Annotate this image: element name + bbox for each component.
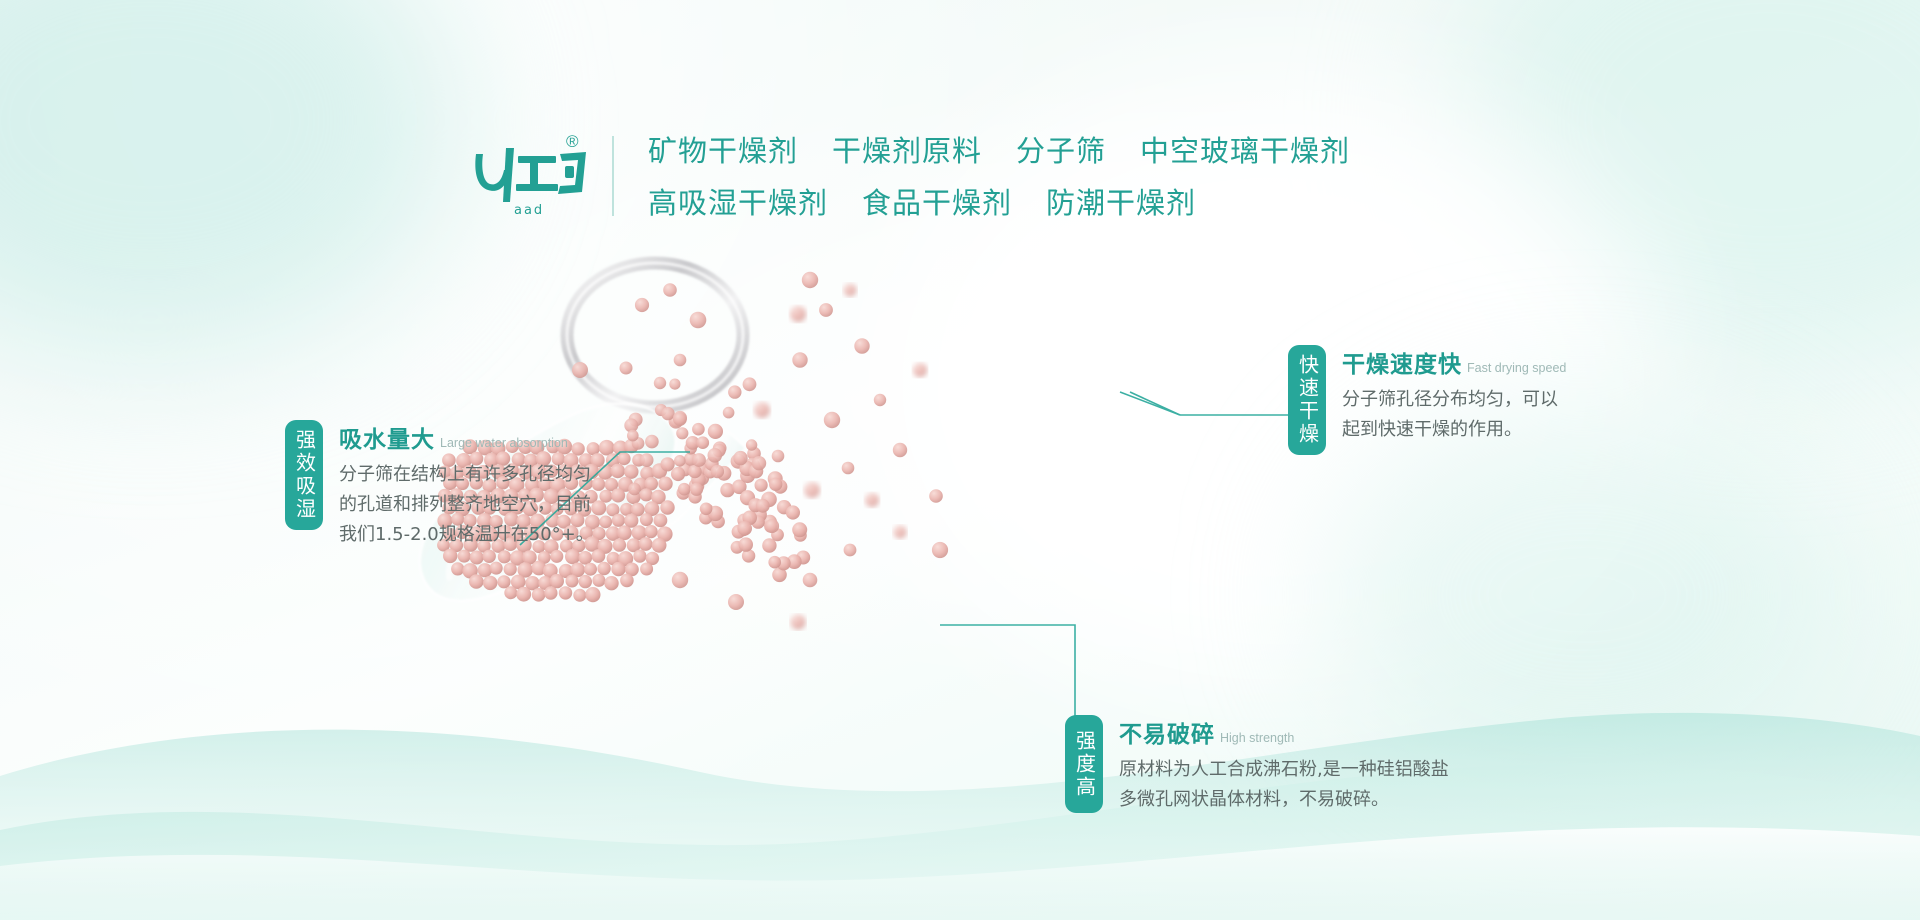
nav-item-moisture-proof-desiccant[interactable]: 防潮干燥剂 — [1046, 180, 1196, 222]
callout-fast-drying-speed: 快速干燥 干燥速度快 Fast drying speed 分子筛孔径分布均匀，可… — [1288, 345, 1566, 455]
callout-subtitle: High strength — [1220, 731, 1294, 745]
nav-item-food-desiccant[interactable]: 食品干燥剂 — [862, 180, 1012, 222]
registered-trademark-icon: ® — [566, 132, 579, 152]
callout-high-strength: 强度高 不易破碎 High strength 原材料为人工合成沸石粉,是一种硅铝… — [1065, 715, 1449, 815]
svg-text:aad: aad — [514, 203, 544, 216]
callout-subtitle: Large water absorption — [440, 436, 568, 450]
callout-large-water-absorption: 强效吸湿 吸水量大 Large water absorption 分子筛在结构上… — [285, 420, 594, 550]
callout-description: 分子筛在结构上有许多孔径均匀 的孔道和排列整齐地空穴，目前 我们1.5-2.0规… — [339, 460, 594, 550]
badge-high-strength: 强度高 — [1065, 715, 1103, 813]
banner-stage: aad ® 矿物干燥剂 干燥剂原料 分子筛 中空玻璃干燥剂 高吸湿干燥剂 食品干… — [0, 0, 1920, 920]
nav-item-insulating-glass-desiccant[interactable]: 中空玻璃干燥剂 — [1140, 128, 1350, 170]
callout-title: 不易破碎 — [1119, 715, 1215, 749]
header-nav: 矿物干燥剂 干燥剂原料 分子筛 中空玻璃干燥剂 高吸湿干燥剂 食品干燥剂 防潮干… — [648, 128, 1350, 232]
nav-item-mineral-desiccant[interactable]: 矿物干燥剂 — [648, 128, 798, 170]
callout-description: 分子筛孔径分布均匀，可以 起到快速干燥的作用。 — [1342, 385, 1566, 445]
nav-item-high-absorption-desiccant[interactable]: 高吸湿干燥剂 — [648, 180, 828, 222]
badge-fast-drying: 快速干燥 — [1288, 345, 1326, 455]
brand-logo[interactable]: aad ® — [470, 140, 590, 220]
connector-speed — [1180, 398, 1290, 415]
nav-row-1: 矿物干燥剂 干燥剂原料 分子筛 中空玻璃干燥剂 — [648, 128, 1350, 170]
nav-item-desiccant-raw-material[interactable]: 干燥剂原料 — [832, 128, 982, 170]
callout-subtitle: Fast drying speed — [1467, 361, 1566, 375]
callout-description: 原材料为人工合成沸石粉,是一种硅铝酸盐 多微孔网状晶体材料，不易破碎。 — [1119, 755, 1449, 815]
header-divider — [612, 136, 614, 216]
nav-row-2: 高吸湿干燥剂 食品干燥剂 防潮干燥剂 — [648, 180, 1350, 222]
badge-strong-moisture-absorption: 强效吸湿 — [285, 420, 323, 530]
callout-title: 干燥速度快 — [1342, 345, 1462, 379]
nav-item-molecular-sieve[interactable]: 分子筛 — [1016, 128, 1106, 170]
callout-title: 吸水量大 — [339, 420, 435, 454]
site-header: aad ® 矿物干燥剂 干燥剂原料 分子筛 中空玻璃干燥剂 高吸湿干燥剂 食品干… — [0, 0, 1920, 250]
